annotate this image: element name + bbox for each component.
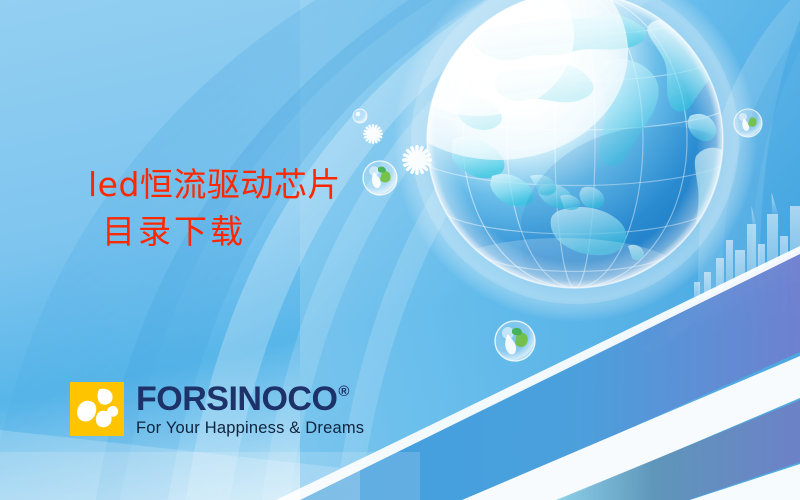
brand-logo[interactable]: FORSINOCO ® For Your Happiness & Dreams (70, 382, 364, 438)
headline-line-1: led恒流驱动芯片 (88, 162, 341, 209)
headline-block: led恒流驱动芯片 目录下载 (88, 162, 341, 256)
registered-trademark-icon: ® (338, 384, 349, 399)
brand-text-block: FORSINOCO ® For Your Happiness & Dreams (136, 382, 364, 438)
starburst-icon (402, 145, 432, 175)
starburst-icon (363, 124, 383, 144)
bubble-globe-icon (495, 321, 535, 361)
brand-wordmark-text: FORSINOCO (136, 382, 337, 416)
headline-line-2: 目录下载 (88, 209, 341, 256)
bubble-globe-icon (734, 109, 762, 137)
brand-tagline: For Your Happiness & Dreams (136, 419, 364, 438)
slide-canvas: led恒流驱动芯片 目录下载 (0, 0, 800, 500)
brand-wordmark: FORSINOCO ® (136, 382, 349, 416)
four-petal-pinwheel-icon (70, 382, 124, 436)
bubble-globe-icon (353, 109, 367, 123)
bubble-globe-icon (363, 161, 397, 195)
